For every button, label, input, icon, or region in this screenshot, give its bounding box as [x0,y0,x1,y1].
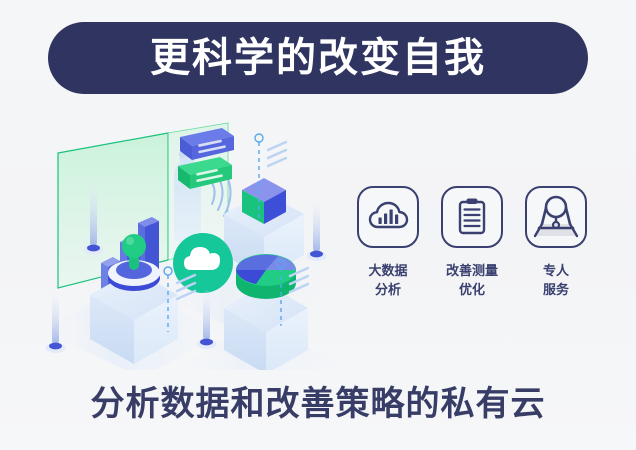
header-banner: 更科学的改变自我 [48,22,588,94]
cloud-bar-chart-icon-box [357,186,419,248]
feature-item-measure-optimize[interactable]: 改善测量 优化 [436,186,508,300]
support-agent-icon-box [525,186,587,248]
cloud-bar-chart-icon [365,194,411,240]
feature-item-big-data[interactable]: 大数据 分析 [352,186,424,300]
clipboard-lines-icon-box [441,186,503,248]
feature-label-dedicated-service: 专人 服务 [543,262,569,300]
page-title: 更科学的改变自我 [150,38,486,78]
green-cloud-badge [173,233,233,293]
feature-label-big-data: 大数据 分析 [368,262,407,300]
poster-canvas: 更科学的改变自我 [0,0,636,450]
isometric-pie-chart [236,254,296,299]
feature-item-dedicated-service[interactable]: 专人 服务 [520,186,592,300]
support-agent-icon [529,190,583,244]
bottom-headline: 分析数据和改善策略的私有云 [0,386,636,423]
clipboard-lines-icon [449,194,495,240]
feature-label-measure-optimize: 改善测量 优化 [446,262,498,300]
feature-list: 大数据 分析 改善测量 优化 [352,186,592,300]
isometric-data-cloud-illustration [28,120,358,370]
